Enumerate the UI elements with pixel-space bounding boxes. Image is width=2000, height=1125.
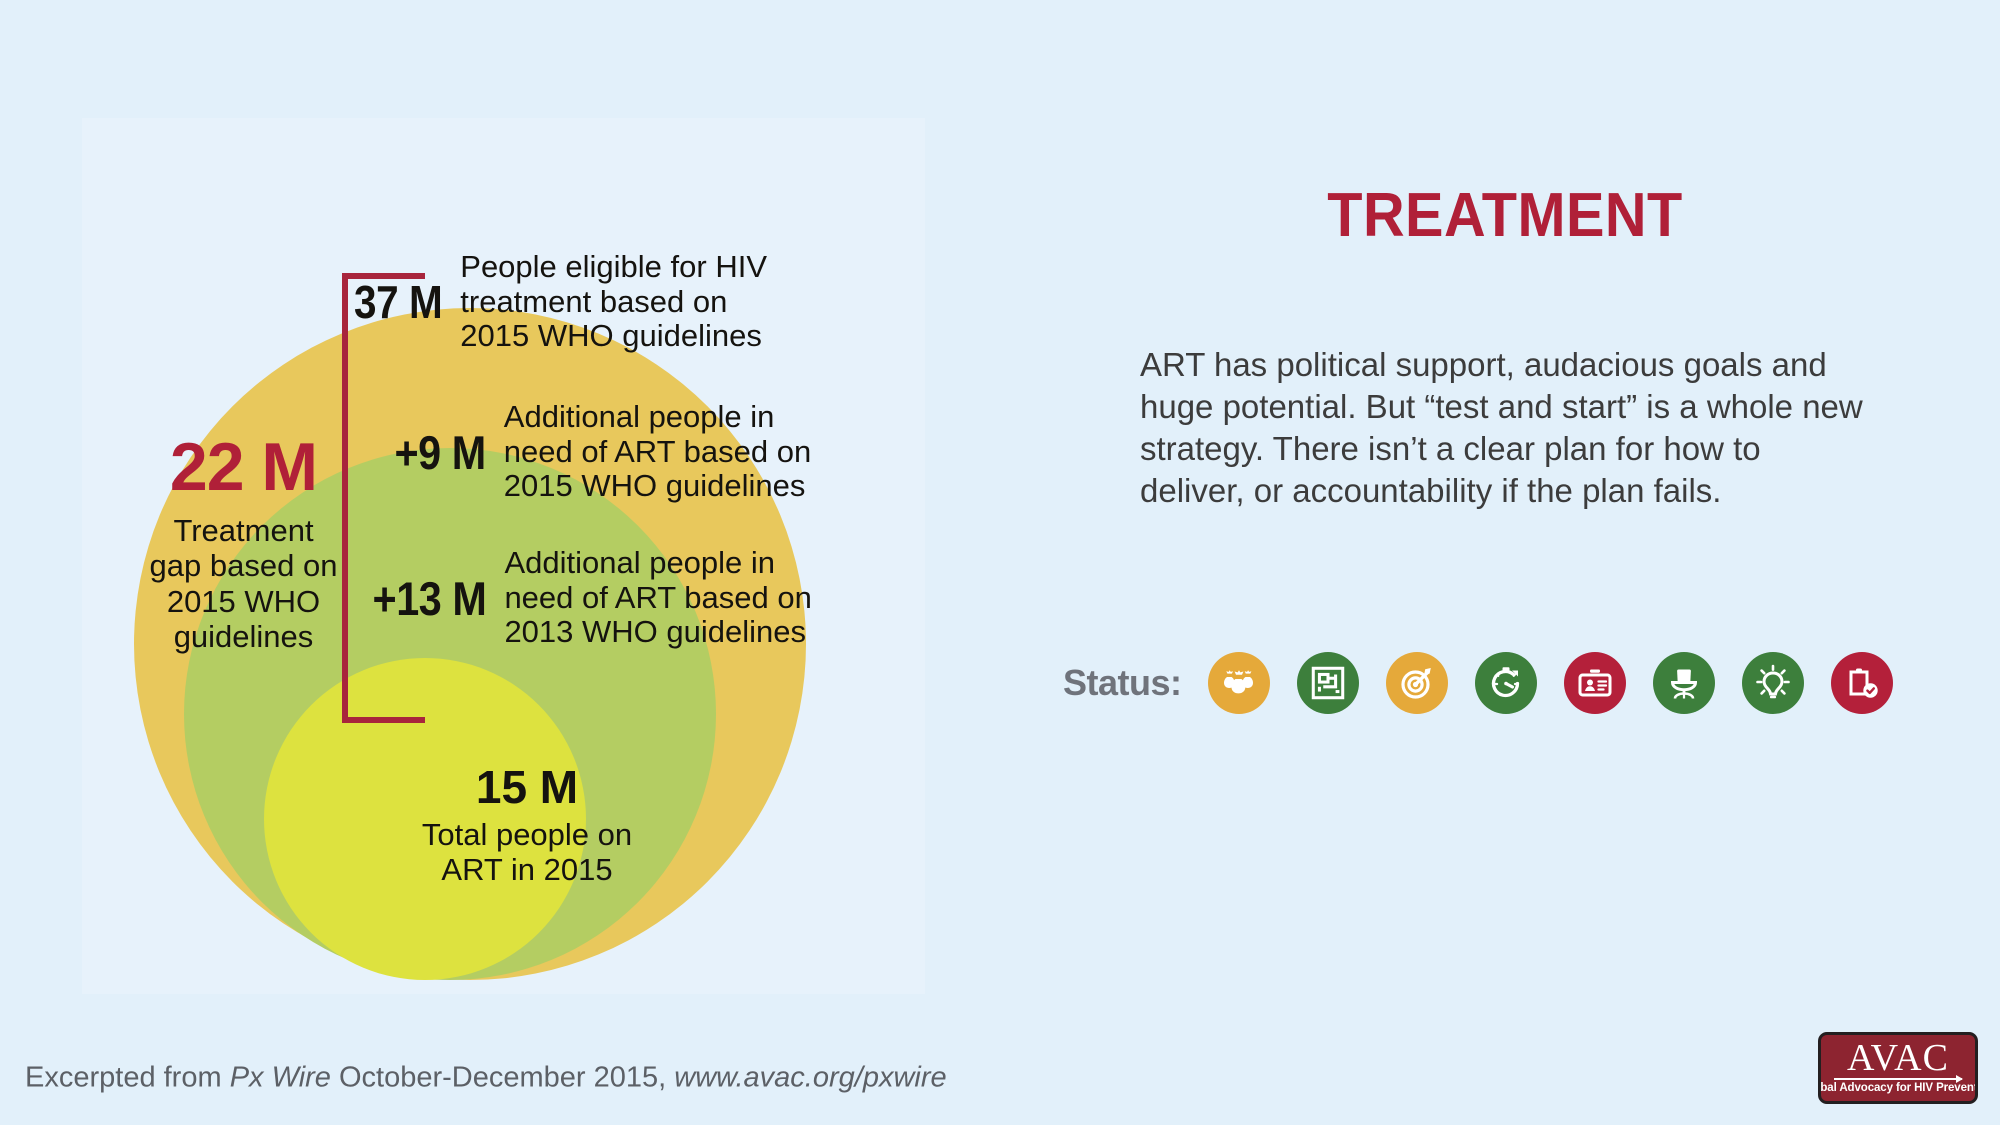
callout-number-37m: 37 M (354, 275, 442, 329)
treatment-gap-description: Treatment gap based on 2015 WHO guidelin… (106, 513, 381, 654)
footer-publication-name: Px Wire (230, 1062, 331, 1094)
callout-desc-37m: People eligible for HIV treatment based … (460, 250, 767, 354)
section-body-text: ART has political support, audacious goa… (1140, 344, 1870, 512)
callout-number-9m: +9 M (394, 425, 485, 480)
target-dart-icon[interactable] (1386, 652, 1448, 714)
footer-url[interactable]: www.avac.org/pxwire (674, 1062, 946, 1094)
stopwatch-icon[interactable] (1475, 652, 1537, 714)
callout-number-13m: +13 M (373, 571, 487, 626)
office-chair-icon[interactable] (1653, 652, 1715, 714)
callout-on-art: 15 M Total people on ART in 2015 (362, 764, 692, 887)
id-card-icon[interactable] (1564, 652, 1626, 714)
maze-icon[interactable] (1297, 652, 1359, 714)
lightbulb-icon[interactable] (1742, 652, 1804, 714)
treatment-gap-number: 22 M (106, 433, 381, 501)
callout-desc-9m: Additional people in need of ART based o… (504, 400, 811, 504)
footer-credit-middle: October-December 2015, (331, 1062, 674, 1094)
callout-number-15m: 15 M (362, 764, 692, 810)
clipboard-check-icon[interactable] (1831, 652, 1893, 714)
page-title: TREATMENT (1166, 180, 1845, 251)
status-row: Status: (1063, 652, 1893, 714)
treatment-gap-block: 22 M Treatment gap based on 2015 WHO gui… (106, 433, 381, 654)
callout-additional-2015: +9 M Additional people in need of ART ba… (382, 400, 811, 504)
right-column: TREATMENT ART has political support, aud… (1140, 180, 1870, 545)
money-bags-icon[interactable] (1208, 652, 1270, 714)
avac-logo[interactable]: AVAC Global Advocacy for HIV Prevention (1818, 1032, 1978, 1104)
callout-eligible-total: 37 M People eligible for HIV treatment b… (342, 250, 767, 354)
callout-additional-2013: +13 M Additional people in need of ART b… (357, 546, 812, 650)
status-label: Status: (1063, 662, 1182, 704)
callout-desc-15m: Total people on ART in 2015 (362, 818, 692, 887)
avac-wordmark: AVAC (1847, 1040, 1949, 1076)
avac-arrow-rule-icon (1834, 1078, 1962, 1080)
footer-credit-prefix: Excerpted from (25, 1062, 230, 1094)
callout-desc-13m: Additional people in need of ART based o… (504, 546, 811, 650)
footer-credit: Excerpted from Px Wire October-December … (25, 1062, 947, 1095)
infographic-panel: 37 M People eligible for HIV treatment b… (82, 118, 925, 994)
avac-tagline: Global Advocacy for HIV Prevention (1818, 1082, 1978, 1094)
